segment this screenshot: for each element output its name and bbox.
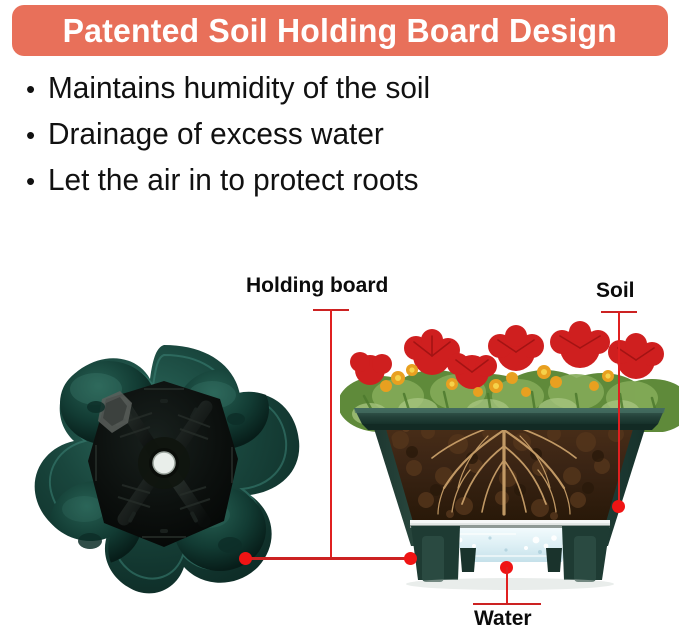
soil-marker bbox=[612, 500, 625, 513]
lattice-core bbox=[88, 381, 238, 547]
header-banner: Patented Soil Holding Board Design bbox=[12, 5, 668, 56]
product-diagram: Holding board Soil Water bbox=[0, 255, 679, 638]
feature-text: Let the air in to protect roots bbox=[48, 162, 419, 198]
callout-label-water: Water bbox=[474, 607, 532, 631]
list-item: • Maintains humidity of the soil bbox=[26, 70, 626, 116]
holding-board-leader-stem bbox=[330, 309, 332, 558]
water-leader-cap bbox=[473, 603, 541, 605]
list-item: • Let the air in to protect roots bbox=[26, 162, 626, 208]
bullet-icon: • bbox=[26, 168, 48, 194]
bullet-icon: • bbox=[26, 76, 48, 102]
callout-label-holding-board: Holding board bbox=[246, 274, 388, 298]
page-title: Patented Soil Holding Board Design bbox=[63, 12, 617, 50]
holding-board-marker-left bbox=[239, 552, 252, 565]
holding-board-leader-rail bbox=[245, 557, 412, 560]
bullet-icon: • bbox=[26, 122, 48, 148]
holding-board-marker-right bbox=[404, 552, 417, 565]
soil-layer bbox=[384, 418, 635, 522]
planter-cross-section-photo bbox=[340, 300, 679, 638]
infographic-page: Patented Soil Holding Board Design • Mai… bbox=[0, 0, 679, 638]
soil-leader-stem bbox=[618, 311, 620, 507]
feature-text: Maintains humidity of the soil bbox=[48, 70, 430, 106]
feature-text: Drainage of excess water bbox=[48, 116, 384, 152]
callout-label-soil: Soil bbox=[596, 279, 635, 303]
feature-list: • Maintains humidity of the soil • Drain… bbox=[26, 70, 626, 208]
holding-board-photo bbox=[24, 341, 304, 605]
list-item: • Drainage of excess water bbox=[26, 116, 626, 162]
water-leader-stem bbox=[506, 567, 508, 605]
